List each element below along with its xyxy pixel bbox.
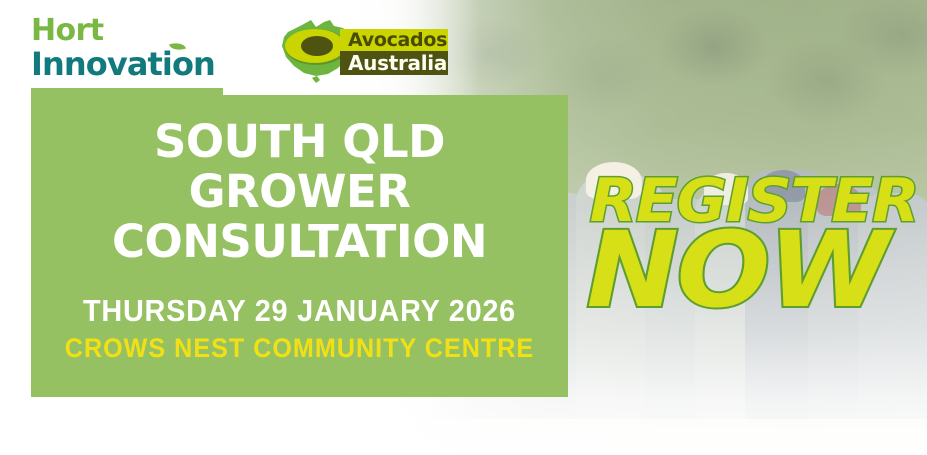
register-now-cta[interactable]: REGISTER NOW: [585, 160, 927, 325]
event-title: SOUTH QLD GROWER CONSULTATION: [31, 117, 568, 267]
title-line-3: CONSULTATION: [31, 217, 568, 267]
innovation-word: Innovation: [31, 45, 215, 83]
avocados-australia-logo: Avocados Australia: [272, 12, 448, 90]
event-info-panel: SOUTH QLD GROWER CONSULTATION THURSDAY 2…: [31, 95, 568, 397]
avocados-australia-wordmark: Avocados Australia: [340, 29, 448, 75]
promotional-banner: Hort Innovation Avocados Australia SOUTH…: [0, 0, 927, 455]
title-line-2: GROWER: [31, 167, 568, 217]
hort-innovation-logo: Hort Innovation: [31, 16, 215, 80]
title-line-1: SOUTH QLD: [31, 117, 568, 167]
innovation-row: Innovation: [31, 48, 215, 80]
avocados-label: Avocados: [340, 29, 448, 51]
event-venue: CROWS NEST COMMUNITY CENTRE: [50, 333, 549, 364]
hort-underbar: [31, 88, 223, 99]
cta-now-text[interactable]: NOW: [586, 218, 887, 322]
hort-word: Hort: [31, 16, 215, 46]
event-date: THURSDAY 29 JANUARY 2026: [50, 293, 549, 329]
australia-label: Australia: [340, 51, 448, 75]
